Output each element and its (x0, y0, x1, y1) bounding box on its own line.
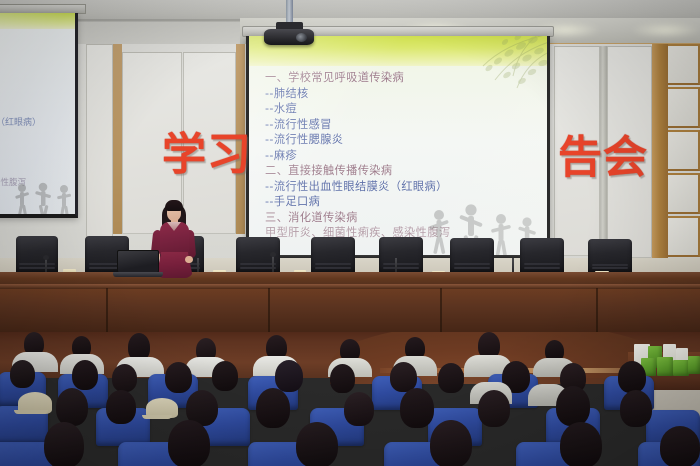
wall-grid-cell (668, 173, 700, 214)
child-silhouette-icon (12, 180, 78, 218)
stage-chair (450, 238, 494, 274)
stage-table-edge (0, 284, 700, 289)
audience-head (620, 390, 652, 427)
audience-head (275, 360, 303, 392)
table-panel-seam (596, 288, 598, 332)
stage-chair (588, 239, 632, 274)
microphone-head-icon (43, 255, 49, 260)
side-slide-text: （红眼病） (0, 115, 41, 128)
audience-head (168, 420, 210, 466)
projector-lens-icon (296, 33, 307, 42)
wall-panel (86, 44, 113, 240)
audience-head (430, 420, 472, 466)
slide-line: --肺结核 (265, 86, 539, 102)
audience-head (618, 361, 646, 393)
audience-head (400, 388, 434, 428)
audience-head (478, 390, 510, 427)
audience-head (296, 422, 338, 466)
audience-head (438, 363, 464, 393)
slide-line: 二、直接接触传播传染病 (265, 163, 539, 179)
audience-head (344, 392, 374, 426)
table-panel-seam (440, 288, 442, 332)
ceiling-light-glow (630, 22, 700, 38)
audience-head (560, 422, 602, 466)
slide-line: --流行性感冒 (265, 117, 539, 133)
audience-cap-brim (14, 410, 48, 414)
laptop (117, 250, 159, 273)
wall-grid-cell (668, 130, 700, 171)
wall-sign-right: 告会 (558, 136, 648, 180)
table-panel-seam (106, 288, 108, 332)
audience-head (10, 360, 35, 388)
audience-cap-brim (142, 415, 172, 419)
stage-chair (16, 236, 58, 274)
presenter-hair-top (165, 200, 183, 211)
audience-head (56, 388, 88, 426)
side-slide-header-band (0, 13, 75, 29)
slide-line: --麻疹 (265, 148, 539, 164)
stage-chair (520, 238, 564, 274)
audience-area (0, 330, 700, 466)
table-panel-seam (268, 288, 270, 332)
stage-table-front-panel (0, 288, 700, 332)
presenter-hand (185, 256, 193, 263)
laptop-base (113, 272, 163, 277)
audience-head (256, 388, 290, 428)
slide-line: --流行性出血性眼结膜炎（红眼病） (265, 179, 539, 195)
audience-head (106, 390, 136, 424)
side-projection-screen: （红眼病） 染性腹泻 (0, 13, 78, 218)
audience-head (212, 361, 238, 391)
audience-head (72, 360, 98, 390)
audience-head (112, 364, 137, 392)
auditorium-photo: （红眼病） 染性腹泻 (0, 0, 700, 466)
audience-head (660, 426, 700, 466)
wall-frame (112, 44, 122, 234)
wall-grid-cell (668, 44, 700, 85)
audience-head (44, 422, 84, 466)
stage-chair (379, 237, 423, 274)
audience-head (165, 362, 192, 393)
audience-head (556, 386, 590, 426)
main-projection-screen: 一、学校常见呼吸道传染病 --肺结核 --水痘 --流行性感冒 --流行性腮腺炎… (246, 36, 550, 259)
microphone-head-icon (270, 252, 276, 257)
wall-grid-cell (668, 87, 700, 128)
presentation-slide: 一、学校常见呼吸道传染病 --肺结核 --水痘 --流行性感冒 --流行性腮腺炎… (249, 36, 547, 255)
slide-line: --水痘 (265, 101, 539, 117)
wall-sign-left: 学习 (162, 133, 252, 177)
stage-chair (311, 237, 355, 274)
audience-head (330, 364, 355, 393)
slide-line: --流行性腮腺炎 (265, 132, 539, 148)
wall-grid-cell (668, 216, 700, 257)
slide-line: 一、学校常见呼吸道传染病 (265, 70, 539, 86)
